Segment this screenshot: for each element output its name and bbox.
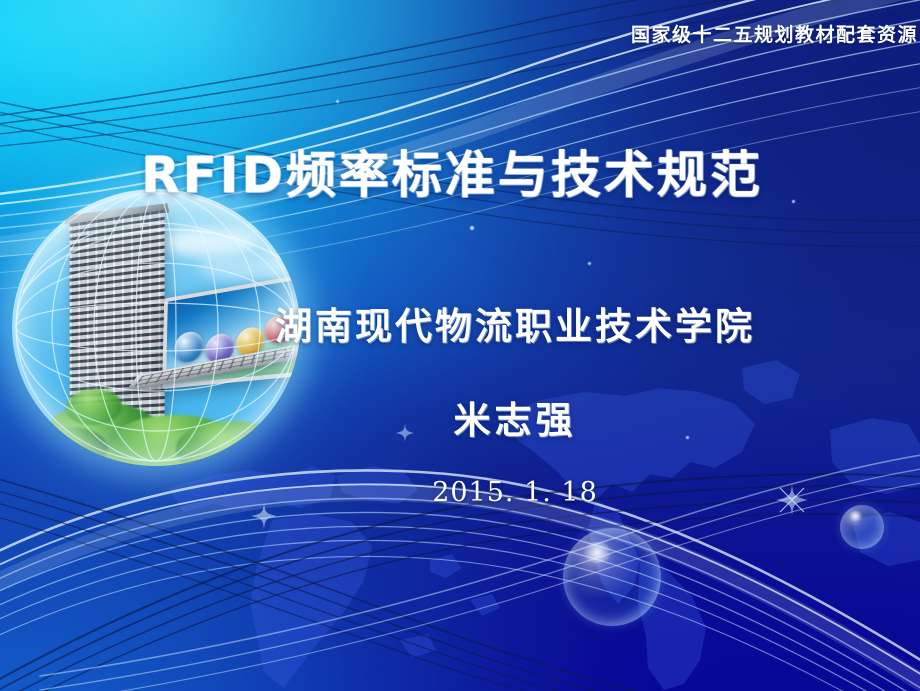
small-bubble	[840, 505, 884, 549]
header-banner-text: 国家级十二五规划教材配套资源	[631, 20, 918, 47]
light-dot	[470, 226, 474, 230]
light-dot	[336, 100, 339, 103]
header-banner: 国家级十二五规划教材配套资源	[631, 20, 918, 47]
author-name: 米志强	[150, 390, 880, 444]
organization-name: 湖南现代物流职业技术学院	[150, 296, 880, 350]
presentation-date: 2015. 1. 18	[150, 477, 880, 508]
title-slide: 国家级十二五规划教材配套资源 RFID频率标准与技术规范 湖南现代物流职业技术学…	[0, 0, 920, 691]
subtitle-block: 湖南现代物流职业技术学院 米志强 2015. 1. 18	[150, 296, 880, 508]
large-bubble	[563, 528, 661, 626]
light-dot	[588, 262, 591, 265]
slide-title: RFID频率标准与技术规范	[0, 135, 904, 207]
